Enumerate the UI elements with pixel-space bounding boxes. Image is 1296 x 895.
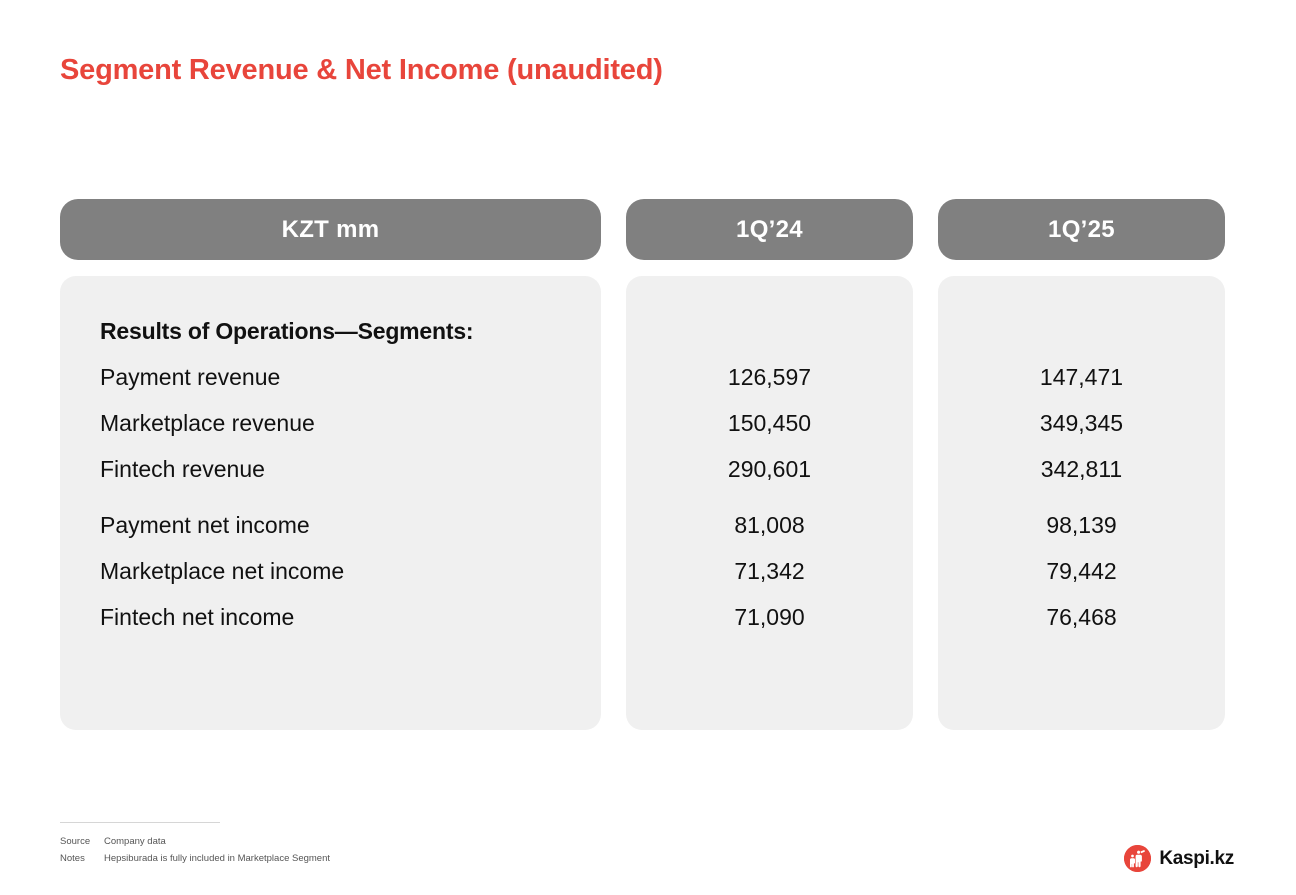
value-1q25-marketplace-net-income: 79,442 (938, 548, 1225, 594)
slide: Segment Revenue & Net Income (unaudited)… (0, 0, 1296, 895)
footnote-source-value: Company data (104, 834, 480, 851)
footnote-notes-key: Notes (60, 851, 104, 868)
section-header-results-of-operations: Results of Operations—Segments: (60, 308, 601, 354)
page-title: Segment Revenue & Net Income (unaudited) (60, 54, 663, 87)
column-header-units: KZT mm (60, 199, 601, 260)
spacer-row-1q24 (626, 308, 913, 354)
labels-card: Results of Operations—Segments: Payment … (60, 276, 601, 730)
value-1q24-payment-net-income: 81,008 (626, 502, 913, 548)
footnote-source-key: Source (60, 834, 104, 851)
footnote-divider (60, 822, 220, 823)
values-card-1q24: 126,597 150,450 290,601 81,008 71,342 71… (626, 276, 913, 730)
kaspi-logo-text: Kaspi.kz (1159, 848, 1234, 870)
value-1q24-fintech-net-income: 71,090 (626, 594, 913, 640)
value-1q24-fintech-revenue: 290,601 (626, 446, 913, 492)
row-label-payment-net-income: Payment net income (60, 502, 601, 548)
row-label-marketplace-net-income: Marketplace net income (60, 548, 601, 594)
row-label-fintech-net-income: Fintech net income (60, 594, 601, 640)
value-1q24-marketplace-revenue: 150,450 (626, 400, 913, 446)
table-body-row: Results of Operations—Segments: Payment … (60, 276, 1226, 730)
footnote-notes-value: Hepsiburada is fully included in Marketp… (104, 851, 480, 868)
value-1q25-payment-revenue: 147,471 (938, 354, 1225, 400)
column-header-1q25: 1Q’25 (938, 199, 1225, 260)
values-card-1q25: 147,471 349,345 342,811 98,139 79,442 76… (938, 276, 1225, 730)
row-label-payment-revenue: Payment revenue (60, 354, 601, 400)
table-header-row: KZT mm 1Q’24 1Q’25 (60, 199, 1226, 260)
footnote-source: Source Company data (60, 834, 480, 851)
spacer-row-1q25 (938, 308, 1225, 354)
kaspi-figures-icon (1124, 845, 1151, 872)
footnote-notes: Notes Hepsiburada is fully included in M… (60, 851, 480, 868)
value-1q24-payment-revenue: 126,597 (626, 354, 913, 400)
value-1q25-fintech-revenue: 342,811 (938, 446, 1225, 492)
segment-table: KZT mm 1Q’24 1Q’25 Results of Operations… (60, 199, 1226, 730)
value-1q25-fintech-net-income: 76,468 (938, 594, 1225, 640)
row-label-fintech-revenue: Fintech revenue (60, 446, 601, 492)
value-1q25-marketplace-revenue: 349,345 (938, 400, 1225, 446)
value-1q24-marketplace-net-income: 71,342 (626, 548, 913, 594)
value-1q25-payment-net-income: 98,139 (938, 502, 1225, 548)
kaspi-logo: Kaspi.kz (1124, 845, 1234, 872)
row-label-marketplace-revenue: Marketplace revenue (60, 400, 601, 446)
footnotes: Source Company data Notes Hepsiburada is… (60, 822, 480, 867)
column-header-1q24: 1Q’24 (626, 199, 913, 260)
